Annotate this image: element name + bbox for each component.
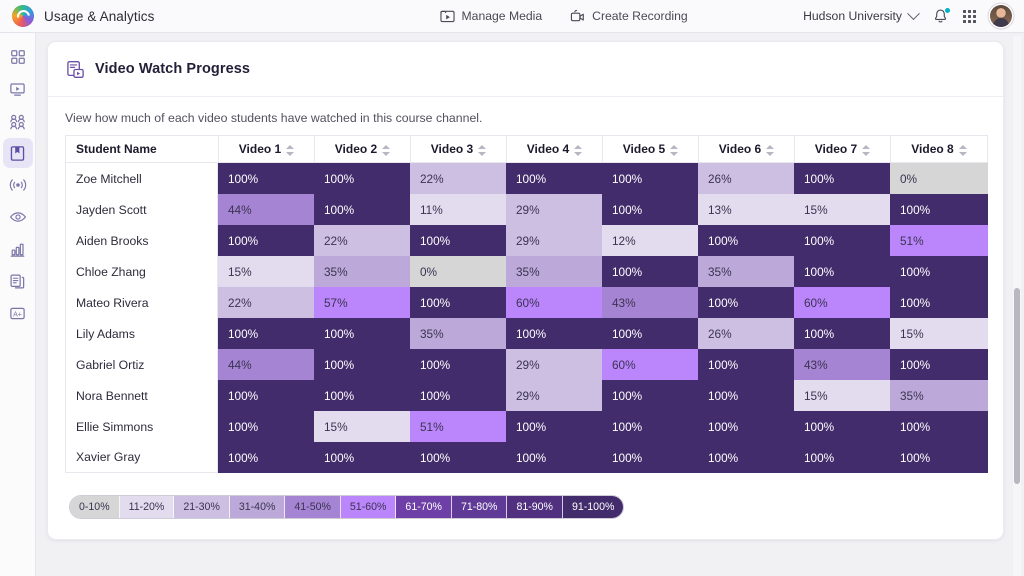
sidebar-item-people[interactable] bbox=[3, 106, 33, 136]
heatmap-cell-video-4[interactable]: 29% bbox=[506, 349, 602, 380]
heatmap-cell-video-4[interactable]: 35% bbox=[506, 256, 602, 287]
heatmap-cell-video-6[interactable]: 13% bbox=[698, 194, 794, 225]
heatmap-cell-video-4[interactable]: 60% bbox=[506, 287, 602, 318]
heatmap-cell-video-5[interactable]: 43% bbox=[602, 287, 698, 318]
student-name-cell: Zoe Mitchell bbox=[65, 163, 218, 194]
column-header-video-6[interactable]: Video 6 bbox=[698, 135, 794, 163]
heatmap-cell-video-8[interactable]: 100% bbox=[890, 349, 988, 380]
heatmap-cell-video-7[interactable]: 100% bbox=[794, 163, 890, 194]
heatmap-cell-video-1[interactable]: 22% bbox=[218, 287, 314, 318]
table-row[interactable]: Aiden Brooks100%22%100%29%12%100%100%51% bbox=[65, 225, 988, 256]
heatmap-cell-video-4[interactable]: 100% bbox=[506, 318, 602, 349]
heatmap-cell-video-3[interactable]: 100% bbox=[410, 380, 506, 411]
heatmap-cell-video-2[interactable]: 100% bbox=[314, 163, 410, 194]
heatmap-cell-video-4[interactable]: 100% bbox=[506, 163, 602, 194]
brand[interactable]: Usage & Analytics bbox=[0, 5, 155, 27]
column-header-label: Video 6 bbox=[719, 142, 761, 156]
heatmap-cell-video-2[interactable]: 100% bbox=[314, 380, 410, 411]
a-plus-grade-icon: A+ bbox=[9, 305, 26, 322]
heatmap-cell-video-1[interactable]: 100% bbox=[218, 163, 314, 194]
heatmap-cell-video-8[interactable]: 100% bbox=[890, 442, 988, 473]
top-bar-right: Hudson University bbox=[803, 5, 1024, 27]
column-header-label: Video 5 bbox=[623, 142, 665, 156]
column-header-student-name[interactable]: Student Name bbox=[65, 135, 218, 163]
grid-dashboard-icon bbox=[10, 49, 26, 65]
student-name-cell: Aiden Brooks bbox=[65, 225, 218, 256]
student-name-cell: Lily Adams bbox=[65, 318, 218, 349]
heatmap-cell-video-7[interactable]: 15% bbox=[794, 194, 890, 225]
heatmap-cell-video-1[interactable]: 15% bbox=[218, 256, 314, 287]
card-subtitle: View how much of each video students hav… bbox=[65, 111, 986, 135]
table-row[interactable]: Lily Adams100%100%35%100%100%26%100%15% bbox=[65, 318, 988, 349]
heatmap-cell-video-4[interactable]: 29% bbox=[506, 225, 602, 256]
legend-band-11-20[interactable]: 11-20% bbox=[120, 496, 175, 518]
table-row[interactable]: Mateo Rivera22%57%100%60%43%100%60%100% bbox=[65, 287, 988, 318]
heatmap-cell-video-3[interactable]: 100% bbox=[410, 287, 506, 318]
heatmap-cell-video-8[interactable]: 0% bbox=[890, 163, 988, 194]
bar-chart-icon bbox=[9, 241, 26, 258]
column-header-video-7[interactable]: Video 7 bbox=[794, 135, 890, 163]
student-name-cell: Ellie Simmons bbox=[65, 411, 218, 442]
heatmap-cell-video-4[interactable]: 29% bbox=[506, 194, 602, 225]
heatmap-cell-video-2[interactable]: 100% bbox=[314, 349, 410, 380]
record-camera-icon bbox=[570, 9, 585, 23]
heatmap-cell-video-7[interactable]: 60% bbox=[794, 287, 890, 318]
media-folder-icon bbox=[440, 9, 455, 23]
table-row[interactable]: Jayden Scott44%100%11%29%100%13%15%100% bbox=[65, 194, 988, 225]
heatmap-cell-video-3[interactable]: 100% bbox=[410, 442, 506, 473]
table-row[interactable]: Nora Bennett100%100%100%29%100%100%15%35… bbox=[65, 380, 988, 411]
sort-arrows-icon[interactable] bbox=[670, 145, 678, 156]
heatmap-cell-video-1[interactable]: 44% bbox=[218, 194, 314, 225]
legend-band-21-30[interactable]: 21-30% bbox=[174, 496, 230, 518]
heatmap-cell-video-2[interactable]: 15% bbox=[314, 411, 410, 442]
column-header-video-3[interactable]: Video 3 bbox=[410, 135, 506, 163]
heatmap-cell-video-1[interactable]: 100% bbox=[218, 318, 314, 349]
column-header-label: Video 3 bbox=[431, 142, 473, 156]
users-group-icon bbox=[9, 113, 26, 130]
heatmap-cell-video-7[interactable]: 100% bbox=[794, 411, 890, 442]
heatmap-cell-video-6[interactable]: 100% bbox=[698, 442, 794, 473]
legend-band-81-90[interactable]: 81-90% bbox=[507, 496, 563, 518]
heatmap-cell-video-5[interactable]: 100% bbox=[602, 442, 698, 473]
book-bookmark-icon bbox=[9, 145, 26, 162]
heatmap-cell-video-5[interactable]: 100% bbox=[602, 318, 698, 349]
column-header-label: Video 2 bbox=[335, 142, 377, 156]
page-title: Usage & Analytics bbox=[44, 9, 155, 24]
heatmap-cell-video-5[interactable]: 100% bbox=[602, 411, 698, 442]
table-row[interactable]: Chloe Zhang15%35%0%35%100%35%100%100% bbox=[65, 256, 988, 287]
heatmap-cell-video-5[interactable]: 100% bbox=[602, 380, 698, 411]
sidebar-item-analytics[interactable] bbox=[3, 234, 33, 264]
heatmap-cell-video-5[interactable]: 12% bbox=[602, 225, 698, 256]
heatmap-cell-video-7[interactable]: 43% bbox=[794, 349, 890, 380]
top-nav-links: Manage Media Create Recording bbox=[440, 9, 688, 23]
heatmap-cell-video-5[interactable]: 100% bbox=[602, 194, 698, 225]
org-label: Hudson University bbox=[803, 9, 902, 23]
column-header-video-8[interactable]: Video 8 bbox=[890, 135, 988, 163]
heatmap-cell-video-5[interactable]: 100% bbox=[602, 256, 698, 287]
heatmap-cell-video-6[interactable]: 100% bbox=[698, 287, 794, 318]
heatmap-cell-video-7[interactable]: 100% bbox=[794, 318, 890, 349]
video-screen-icon bbox=[9, 81, 26, 98]
sidebar-item-grading[interactable]: A+ bbox=[3, 298, 33, 328]
legend-band-91-100[interactable]: 91-100% bbox=[563, 496, 623, 518]
card-header: Video Watch Progress bbox=[48, 42, 1003, 97]
legend-band-0-10[interactable]: 0-10% bbox=[70, 496, 120, 518]
sort-arrows-icon[interactable] bbox=[574, 145, 582, 156]
org-switcher[interactable]: Hudson University bbox=[803, 9, 918, 23]
column-header-label: Video 8 bbox=[911, 142, 953, 156]
eye-icon bbox=[9, 208, 27, 226]
notifications-button[interactable] bbox=[932, 8, 949, 25]
card-body: View how much of each video students hav… bbox=[48, 97, 1003, 519]
heatmap-cell-video-8[interactable]: 15% bbox=[890, 318, 988, 349]
heatmap-cell-video-7[interactable]: 100% bbox=[794, 442, 890, 473]
column-header-video-5[interactable]: Video 5 bbox=[602, 135, 698, 163]
page-scrollbar[interactable] bbox=[1013, 36, 1021, 576]
heatmap-cell-video-6[interactable]: 26% bbox=[698, 163, 794, 194]
legend-band-51-60[interactable]: 51-60% bbox=[341, 496, 397, 518]
student-name-cell: Jayden Scott bbox=[65, 194, 218, 225]
student-name-cell: Xavier Gray bbox=[65, 442, 218, 473]
sidebar-item-media[interactable] bbox=[3, 74, 33, 104]
sidebar-item-dashboard[interactable] bbox=[3, 42, 33, 72]
heatmap-cell-video-4[interactable]: 29% bbox=[506, 380, 602, 411]
heatmap-cell-video-6[interactable]: 100% bbox=[698, 349, 794, 380]
heatmap-cell-video-6[interactable]: 100% bbox=[698, 225, 794, 256]
column-header-video-1[interactable]: Video 1 bbox=[218, 135, 314, 163]
heatmap-cell-video-2[interactable]: 57% bbox=[314, 287, 410, 318]
sidebar-item-preview[interactable] bbox=[3, 202, 33, 232]
legend-band-61-70[interactable]: 61-70% bbox=[396, 496, 452, 518]
heatmap-cell-video-8[interactable]: 51% bbox=[890, 225, 988, 256]
heatmap-cell-video-7[interactable]: 100% bbox=[794, 256, 890, 287]
student-name-cell: Gabriel Ortiz bbox=[65, 349, 218, 380]
student-name-cell: Chloe Zhang bbox=[65, 256, 218, 287]
heatmap-cell-video-3[interactable]: 100% bbox=[410, 349, 506, 380]
heatmap-cell-video-2[interactable]: 100% bbox=[314, 442, 410, 473]
heatmap-cell-video-4[interactable]: 100% bbox=[506, 442, 602, 473]
sort-arrows-icon[interactable] bbox=[478, 145, 486, 156]
heatmap-cell-video-8[interactable]: 100% bbox=[890, 194, 988, 225]
heatmap-cell-video-3[interactable]: 35% bbox=[410, 318, 506, 349]
heatmap-cell-video-2[interactable]: 22% bbox=[314, 225, 410, 256]
table-row[interactable]: Gabriel Ortiz44%100%100%29%60%100%43%100… bbox=[65, 349, 988, 380]
heatmap-cell-video-2[interactable]: 35% bbox=[314, 256, 410, 287]
color-scale-legend: 0-10%11-20%21-30%31-40%41-50%51-60%61-70… bbox=[69, 495, 624, 519]
sort-arrows-icon[interactable] bbox=[382, 145, 390, 156]
heatmap-cell-video-8[interactable]: 100% bbox=[890, 411, 988, 442]
heatmap-cell-video-3[interactable]: 0% bbox=[410, 256, 506, 287]
legend-band-31-40[interactable]: 31-40% bbox=[230, 496, 286, 518]
table-row[interactable]: Xavier Gray100%100%100%100%100%100%100%1… bbox=[65, 442, 988, 473]
column-header-video-4[interactable]: Video 4 bbox=[506, 135, 602, 163]
heatmap-cell-video-2[interactable]: 100% bbox=[314, 318, 410, 349]
heatmap-cell-video-7[interactable]: 100% bbox=[794, 225, 890, 256]
avatar[interactable] bbox=[990, 5, 1012, 27]
heatmap-cell-video-2[interactable]: 100% bbox=[314, 194, 410, 225]
heatmap-cell-video-8[interactable]: 100% bbox=[890, 256, 988, 287]
heatmap-cell-video-1[interactable]: 100% bbox=[218, 411, 314, 442]
heatmap-cell-video-8[interactable]: 100% bbox=[890, 287, 988, 318]
sort-arrows-icon[interactable] bbox=[286, 145, 294, 156]
heatmap-cell-video-3[interactable]: 22% bbox=[410, 163, 506, 194]
video-watch-progress-card: Video Watch Progress View how much of ea… bbox=[47, 41, 1004, 540]
student-name-cell: Mateo Rivera bbox=[65, 287, 218, 318]
table-row[interactable]: Ellie Simmons100%15%51%100%100%100%100%1… bbox=[65, 411, 988, 442]
heatmap-cell-video-4[interactable]: 100% bbox=[506, 411, 602, 442]
app-grid-icon[interactable] bbox=[963, 10, 976, 23]
table-body: Zoe Mitchell100%100%22%100%100%26%100%0%… bbox=[65, 163, 988, 473]
sidebar: A+ bbox=[0, 33, 36, 576]
heatmap-cell-video-1[interactable]: 100% bbox=[218, 225, 314, 256]
notification-badge-dot bbox=[944, 7, 951, 14]
heatmap-cell-video-6[interactable]: 100% bbox=[698, 380, 794, 411]
heatmap-cell-video-6[interactable]: 35% bbox=[698, 256, 794, 287]
watch-progress-heatmap-table: Student NameVideo 1Video 2Video 3Video 4… bbox=[65, 135, 988, 473]
legend-band-41-50[interactable]: 41-50% bbox=[285, 496, 341, 518]
column-header-label: Video 4 bbox=[527, 142, 569, 156]
legend-band-71-80[interactable]: 71-80% bbox=[452, 496, 508, 518]
student-name-cell: Nora Bennett bbox=[65, 380, 218, 411]
heatmap-cell-video-1[interactable]: 100% bbox=[218, 380, 314, 411]
heatmap-cell-video-5[interactable]: 60% bbox=[602, 349, 698, 380]
manage-media-link[interactable]: Manage Media bbox=[440, 9, 543, 23]
app-logo-icon bbox=[12, 5, 34, 27]
manage-media-label: Manage Media bbox=[462, 9, 543, 23]
sidebar-item-documents[interactable] bbox=[3, 266, 33, 296]
sidebar-item-live[interactable] bbox=[3, 170, 33, 200]
heatmap-cell-video-7[interactable]: 15% bbox=[794, 380, 890, 411]
column-header-video-2[interactable]: Video 2 bbox=[314, 135, 410, 163]
card-title: Video Watch Progress bbox=[95, 61, 250, 77]
documents-icon bbox=[9, 273, 26, 290]
top-bar: Usage & Analytics Manage Media Create Re… bbox=[0, 0, 1024, 33]
svg-text:A+: A+ bbox=[13, 311, 22, 318]
create-recording-link[interactable]: Create Recording bbox=[570, 9, 688, 23]
column-header-label: Video 7 bbox=[815, 142, 857, 156]
column-header-label: Video 1 bbox=[239, 142, 281, 156]
broadcast-live-icon bbox=[9, 176, 27, 194]
heatmap-cell-video-6[interactable]: 100% bbox=[698, 411, 794, 442]
heatmap-cell-video-6[interactable]: 26% bbox=[698, 318, 794, 349]
sort-arrows-icon[interactable] bbox=[862, 145, 870, 156]
sort-arrows-icon[interactable] bbox=[766, 145, 774, 156]
chevron-down-icon bbox=[907, 7, 920, 20]
heatmap-cell-video-5[interactable]: 100% bbox=[602, 163, 698, 194]
video-report-icon bbox=[66, 60, 85, 79]
heatmap-cell-video-1[interactable]: 100% bbox=[218, 442, 314, 473]
heatmap-cell-video-3[interactable]: 51% bbox=[410, 411, 506, 442]
heatmap-cell-video-1[interactable]: 44% bbox=[218, 349, 314, 380]
heatmap-cell-video-3[interactable]: 100% bbox=[410, 225, 506, 256]
create-recording-label: Create Recording bbox=[592, 9, 688, 23]
sidebar-item-channels[interactable] bbox=[3, 138, 33, 168]
table-header: Student NameVideo 1Video 2Video 3Video 4… bbox=[65, 135, 988, 163]
table-row[interactable]: Zoe Mitchell100%100%22%100%100%26%100%0% bbox=[65, 163, 988, 194]
heatmap-cell-video-8[interactable]: 35% bbox=[890, 380, 988, 411]
heatmap-cell-video-3[interactable]: 11% bbox=[410, 194, 506, 225]
page-scrollbar-thumb[interactable] bbox=[1014, 288, 1020, 484]
sort-arrows-icon[interactable] bbox=[959, 145, 967, 156]
